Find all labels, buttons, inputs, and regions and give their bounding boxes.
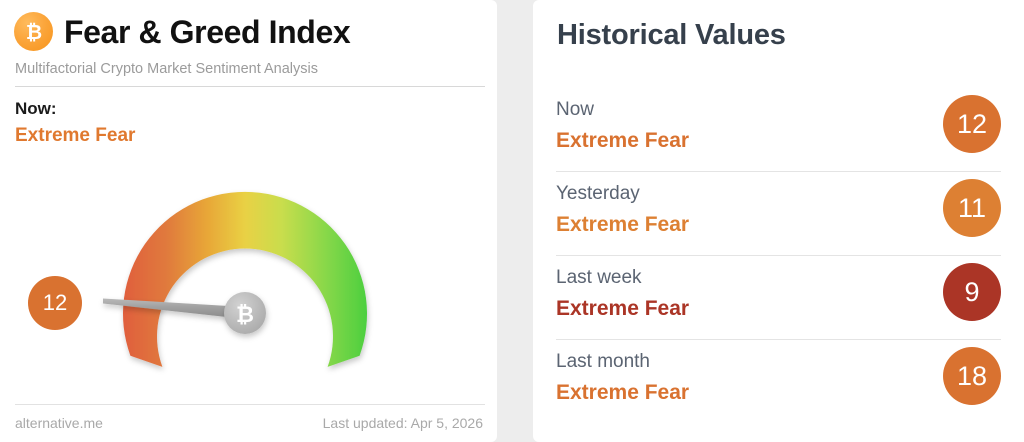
history-classification: Extreme Fear — [556, 297, 689, 320]
list-item: Last month Extreme Fear 18 — [556, 340, 1001, 424]
history-period: Yesterday — [556, 184, 640, 205]
history-score-badge: 18 — [943, 347, 1001, 405]
page-title: Fear & Greed Index — [64, 16, 350, 48]
last-updated-label: Last updated: Apr 5, 2026 — [323, 415, 483, 431]
historical-values-panel: Historical Values Now Extreme Fear 12 Ye… — [533, 0, 1024, 442]
source-label: alternative.me — [15, 415, 103, 431]
historical-values-title: Historical Values — [557, 19, 786, 52]
fear-greed-widget: ₿ Fear & Greed Index Multifactorial Cryp… — [0, 0, 1024, 442]
footer-divider — [15, 404, 485, 405]
history-score-badge: 11 — [943, 179, 1001, 237]
page-subtitle: Multifactorial Crypto Market Sentiment A… — [15, 61, 318, 77]
history-score-badge: 9 — [943, 263, 1001, 321]
list-item: Yesterday Extreme Fear 11 — [556, 172, 1001, 256]
history-score-badge: 12 — [943, 95, 1001, 153]
history-classification: Extreme Fear — [556, 213, 689, 236]
svg-text:₿: ₿ — [25, 22, 41, 44]
list-item: Now Extreme Fear 12 — [556, 88, 1001, 172]
gauge-hub: ₿ — [224, 292, 266, 334]
history-period: Last month — [556, 352, 650, 373]
header-divider — [15, 86, 485, 87]
svg-text:₿: ₿ — [236, 302, 254, 327]
now-classification: Extreme Fear — [15, 125, 135, 147]
brand-row: ₿ Fear & Greed Index — [14, 12, 350, 51]
index-panel: ₿ Fear & Greed Index Multifactorial Cryp… — [0, 0, 497, 442]
historical-values-list: Now Extreme Fear 12 Yesterday Extreme Fe… — [533, 88, 1024, 424]
bitcoin-icon: ₿ — [14, 12, 53, 51]
gauge: ₿ — [60, 150, 440, 395]
history-period: Now — [556, 100, 594, 121]
history-classification: Extreme Fear — [556, 381, 689, 404]
history-period: Last week — [556, 268, 642, 289]
history-classification: Extreme Fear — [556, 129, 689, 152]
gauge-arc — [123, 192, 367, 367]
current-score-badge: 12 — [28, 276, 82, 330]
list-item: Last week Extreme Fear 9 — [556, 256, 1001, 340]
now-label: Now: — [15, 99, 57, 119]
